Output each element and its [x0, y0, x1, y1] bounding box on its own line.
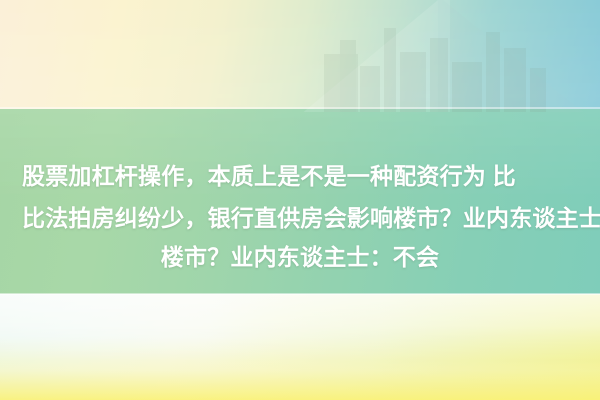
news-banner: 股票加杠杆操作，本质上是不是一种配资行为 比 比法拍房纠纷少，银行直供房会影响楼…: [0, 0, 600, 400]
headline-overlay-line: 楼市？业内东谈主士：不会: [0, 239, 600, 275]
headline-main: 股票加杠杆操作，本质上是不是一种配资行为 比 比法拍房纠纷少，银行直供房会影响楼…: [22, 155, 600, 239]
headline-line-2: 比法拍房纠纷少，银行直供房会影响楼市？业内东谈主士：不会: [22, 197, 600, 239]
headline-line-1: 股票加杠杆操作，本质上是不是一种配资行为 比: [22, 155, 600, 197]
headline-block: 股票加杠杆操作，本质上是不是一种配资行为 比 比法拍房纠纷少，银行直供房会影响楼…: [0, 0, 600, 400]
